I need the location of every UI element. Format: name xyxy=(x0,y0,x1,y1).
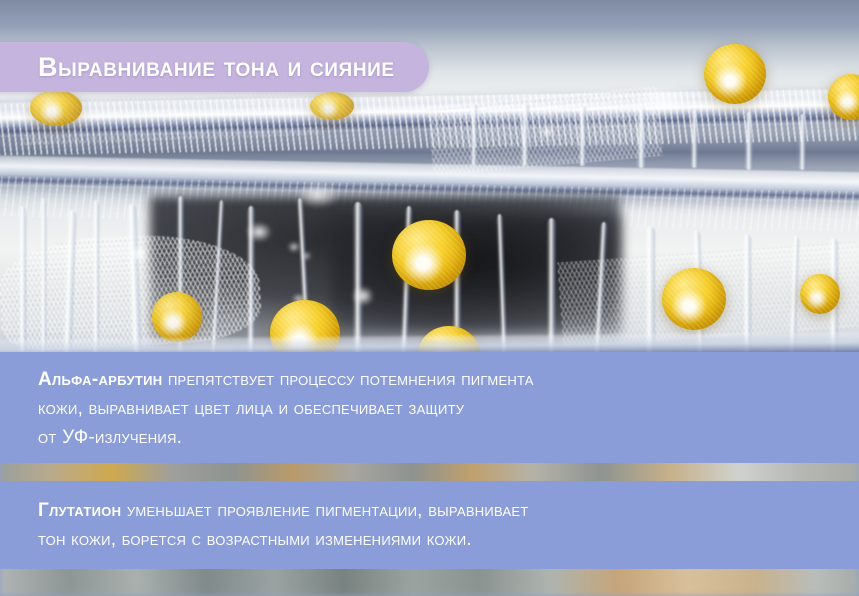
collagen-strand xyxy=(742,234,752,356)
band-line-text: препятствует процессу потемнения пигмент… xyxy=(162,369,533,390)
lipid-droplet xyxy=(704,44,766,104)
bubble-highlight xyxy=(288,242,300,252)
info-band-alpha-arbutin: Альфа-арбутин препятствует процессу поте… xyxy=(0,352,859,463)
lipid-droplet xyxy=(152,292,202,342)
lipid-droplet xyxy=(30,90,82,126)
page-title: Выравнивание тона и сияние xyxy=(38,54,395,81)
term-alpha-arbutin: Альфа-арбутин xyxy=(38,369,162,390)
collagen-strand-upper xyxy=(578,106,587,166)
lipid-droplet xyxy=(800,274,840,314)
bubble-highlight xyxy=(302,252,311,260)
specular-glow xyxy=(296,182,340,208)
collagen-strand-upper xyxy=(520,104,530,166)
collagen-strand xyxy=(18,206,27,356)
bubble-highlight xyxy=(130,246,148,262)
collagen-strand xyxy=(40,198,47,360)
collagen-strand-upper xyxy=(636,108,647,168)
band-line: тон кожи, борется с возрастными изменени… xyxy=(38,525,529,554)
term-glutathione: Глутатион xyxy=(38,500,121,521)
band-line: Альфа-арбутин препятствует процессу поте… xyxy=(38,365,534,394)
band-line: кожи, выравнивает цвет лица и обеспечива… xyxy=(38,394,534,423)
collagen-strand-upper xyxy=(798,114,807,170)
band-line-text: уменьшает проявление пигментации, выравн… xyxy=(121,500,528,521)
info-band-glutathione-text: Глутатион уменьшает проявление пигментац… xyxy=(0,496,563,554)
band-line: Глутатион уменьшает проявление пигментац… xyxy=(38,496,529,525)
slide-root: Выравнивание тона и сияние Альфа-арбутин… xyxy=(0,0,859,596)
band-line: от УФ-излучения. xyxy=(38,423,534,452)
bubble-highlight xyxy=(540,126,554,138)
collagen-strand xyxy=(546,218,557,356)
bubble-highlight xyxy=(246,222,272,242)
collagen-strand xyxy=(352,202,364,354)
collagen-strand-upper xyxy=(470,104,478,166)
info-band-glutathione: Глутатион уменьшает проявление пигментац… xyxy=(0,481,859,569)
collagen-strand xyxy=(644,226,656,356)
lipid-droplet xyxy=(310,92,354,120)
collagen-strand-upper xyxy=(690,110,699,168)
specular-glow xyxy=(632,84,692,118)
lipid-droplet xyxy=(392,220,466,290)
title-banner: Выравнивание тона и сияние xyxy=(0,42,429,92)
bubble-highlight xyxy=(352,286,374,306)
collagen-strand xyxy=(92,200,100,358)
collagen-strand-upper xyxy=(744,112,754,170)
info-band-alpha-arbutin-text: Альфа-арбутин препятствует процессу поте… xyxy=(0,363,568,452)
lipid-droplet xyxy=(662,268,726,330)
